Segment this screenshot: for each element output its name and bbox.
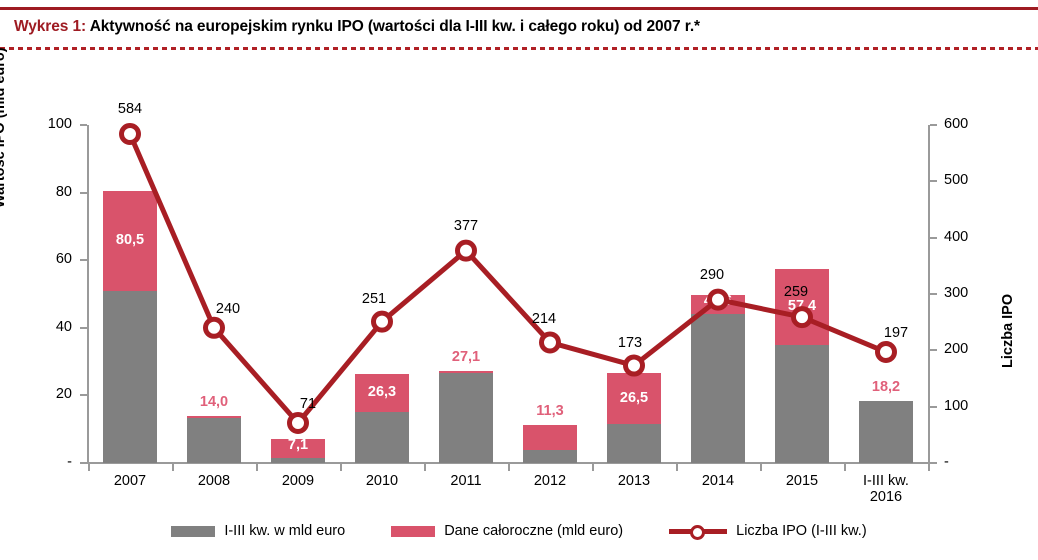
bar-value-label: 26,3 (342, 385, 422, 400)
x-axis-label: 2015 (760, 473, 844, 489)
bar-value-label: 11,3 (510, 404, 590, 419)
line-marker (374, 313, 391, 330)
y-tick-right (930, 237, 937, 239)
line-marker (878, 344, 895, 361)
y-tick-left (80, 394, 87, 396)
bar-value-label: 57,4 (762, 299, 842, 314)
x-axis-label: I-III kw.2016 (844, 473, 928, 505)
legend-label: Dane całoroczne (mld euro) (444, 523, 623, 539)
line-marker (542, 334, 559, 351)
bar-segment-q1q3 (523, 450, 577, 463)
y-tick-left (80, 124, 87, 126)
y-tick-label-right: - (944, 455, 992, 470)
legend-label: I-III kw. w mld euro (224, 523, 345, 539)
y-tick-label-left: 20 (30, 387, 72, 402)
y-tick-right (930, 462, 937, 464)
y-axis-title-right: Liczba IPO (1000, 168, 1016, 368)
line-value-label: 173 (600, 336, 660, 351)
x-axis-label: 2014 (676, 473, 760, 489)
legend-item[interactable]: Liczba IPO (I-III kw.) (669, 523, 867, 539)
y-tick-left (80, 462, 87, 464)
line-value-label: 214 (514, 312, 574, 327)
chart-legend: I-III kw. w mld euroDane całoroczne (mld… (0, 516, 1038, 546)
header-rule-top (0, 7, 1038, 10)
x-tick (424, 464, 426, 471)
y-tick-right (930, 349, 937, 351)
bar-segment-q1q3 (691, 314, 745, 463)
x-tick (760, 464, 762, 471)
bar-value-label: 7,1 (258, 438, 338, 453)
bar-value-label: 26,5 (594, 391, 674, 406)
x-tick (340, 464, 342, 471)
page-title-label: Wykres 1: (14, 18, 86, 35)
bar-value-label: 27,1 (426, 350, 506, 365)
y-axis-left (87, 125, 89, 464)
line-value-label: 290 (682, 268, 742, 283)
bar-segment-q1q3 (859, 401, 913, 463)
y-tick-label-right: 100 (944, 399, 992, 414)
y-tick-right (930, 406, 937, 408)
y-tick-label-right: 400 (944, 230, 992, 245)
x-tick (256, 464, 258, 471)
line-value-label: 584 (100, 102, 160, 117)
x-axis-label: 2010 (340, 473, 424, 489)
line-marker (122, 126, 139, 143)
y-tick-label-right: 500 (944, 173, 992, 188)
line-marker (290, 415, 307, 432)
bar-value-label: 14,0 (174, 395, 254, 410)
y-tick-right (930, 293, 937, 295)
bar-value-label: 49,6 (678, 294, 758, 309)
x-tick (508, 464, 510, 471)
line-marker (458, 242, 475, 259)
x-axis-label: 2013 (592, 473, 676, 489)
y-tick-label-right: 300 (944, 286, 992, 301)
y-tick-label-left: 80 (30, 185, 72, 200)
bar-value-label: 18,2 (846, 380, 926, 395)
bar-segment-fullyear (523, 425, 577, 450)
line-value-label: 377 (436, 219, 496, 234)
bar-segment-q1q3 (187, 418, 241, 463)
y-tick-label-right: 200 (944, 342, 992, 357)
y-tick-label-left: 40 (30, 320, 72, 335)
x-axis-label: 2007 (88, 473, 172, 489)
x-tick (88, 464, 90, 471)
y-tick-left (80, 192, 87, 194)
page-title: Wykres 1: Aktywność na europejskim rynku… (14, 18, 700, 36)
chart-area: Wartość IPO (mld euro) Liczba IPO -20406… (0, 58, 1038, 560)
x-tick (172, 464, 174, 471)
y-tick-right (930, 124, 937, 126)
bar-value-label: 80,5 (90, 233, 170, 248)
line-value-label: 71 (278, 397, 338, 412)
bar-segment-q1q3 (355, 412, 409, 463)
line-value-label: 251 (344, 292, 404, 307)
legend-swatch-pink-icon (391, 526, 435, 537)
line-value-label: 259 (766, 285, 826, 300)
bar-segment-q1q3 (103, 291, 157, 463)
y-tick-label-right: 600 (944, 117, 992, 132)
y-tick-label-left: 100 (30, 117, 72, 132)
legend-label: Liczba IPO (I-III kw.) (736, 523, 867, 539)
y-tick-left (80, 259, 87, 261)
y-axis-title-left: Wartość IPO (mld euro) (0, 0, 8, 208)
bar-segment-q1q3 (271, 458, 325, 463)
y-tick-label-left: - (30, 455, 72, 470)
line-value-label: 240 (198, 302, 258, 317)
header-rule-bottom (0, 47, 1038, 50)
line-marker (626, 357, 643, 374)
x-tick (592, 464, 594, 471)
page-title-text: Aktywność na europejskim rynku IPO (wart… (86, 18, 700, 35)
x-tick (844, 464, 846, 471)
x-tick (928, 464, 930, 471)
x-axis-label: 2008 (172, 473, 256, 489)
line-marker (206, 319, 223, 336)
x-tick (676, 464, 678, 471)
bar-segment-q1q3 (607, 424, 661, 463)
x-axis-label: 2009 (256, 473, 340, 489)
legend-item[interactable]: I-III kw. w mld euro (171, 523, 345, 539)
legend-item[interactable]: Dane całoroczne (mld euro) (391, 523, 623, 539)
x-axis-label: 2011 (424, 473, 508, 489)
line-path (130, 134, 886, 423)
x-axis-label: 2012 (508, 473, 592, 489)
line-value-label: 197 (866, 326, 926, 341)
y-tick-label-left: 60 (30, 252, 72, 267)
bar-segment-q1q3 (775, 345, 829, 463)
bar-segment-q1q3 (439, 373, 493, 463)
y-tick-right (930, 180, 937, 182)
legend-line-marker-icon (669, 523, 727, 539)
legend-swatch-gray-icon (171, 526, 215, 537)
y-tick-left (80, 327, 87, 329)
